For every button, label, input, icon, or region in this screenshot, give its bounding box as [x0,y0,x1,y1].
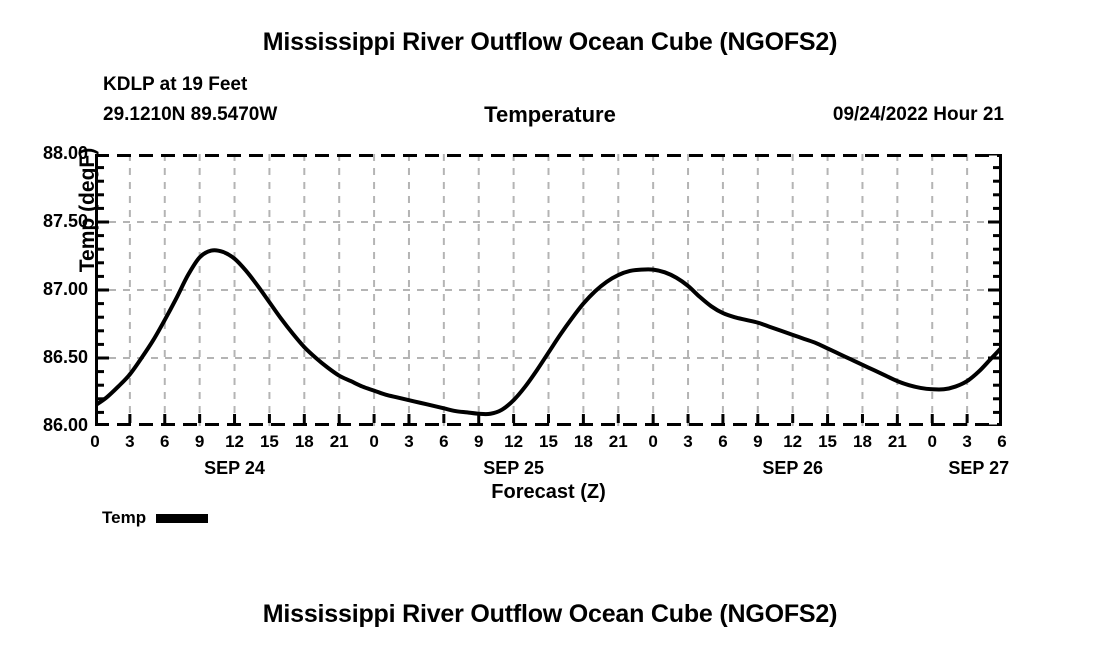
x-tick-label: 21 [330,432,349,452]
legend-label-temp: Temp [102,508,146,528]
x-axis-day-label: SEP 26 [762,458,823,479]
x-tick-label: 21 [888,432,907,452]
x-axis-day-label: SEP 27 [948,458,1009,479]
x-tick-label: 15 [539,432,558,452]
y-axis-title: Temp (degF) [76,90,100,330]
x-tick-label: 18 [295,432,314,452]
x-tick-label: 12 [504,432,523,452]
x-tick-label: 18 [574,432,593,452]
x-tick-label: 6 [997,432,1006,452]
x-tick-label: 18 [853,432,872,452]
x-axis-title: Forecast (Z) [95,481,1002,504]
y-tick-label: 86.50 [6,347,88,368]
chart-page: Mississippi River Outflow Ocean Cube (NG… [0,0,1100,650]
y-tick-label: 86.00 [6,415,88,436]
x-tick-label: 15 [260,432,279,452]
x-tick-label: 9 [195,432,204,452]
x-tick-label: 12 [225,432,244,452]
x-tick-label: 6 [439,432,448,452]
plot-frame [95,154,1002,426]
x-tick-label: 0 [648,432,657,452]
x-tick-label: 9 [474,432,483,452]
page-title-bottom: Mississippi River Outflow Ocean Cube (NG… [0,600,1100,629]
x-axis-day-label: SEP 24 [204,458,265,479]
plot-area [95,154,1002,426]
x-axis-day-label: SEP 25 [483,458,544,479]
x-tick-label: 21 [609,432,628,452]
x-tick-label: 3 [125,432,134,452]
x-tick-label: 15 [818,432,837,452]
x-axis-tick-labels: 036912151821036912151821036912151821036 [95,432,1002,456]
x-tick-label: 3 [962,432,971,452]
x-tick-label: 0 [90,432,99,452]
legend: Temp [102,508,208,528]
page-title-top: Mississippi River Outflow Ocean Cube (NG… [0,28,1100,57]
x-tick-label: 12 [783,432,802,452]
x-tick-label: 6 [160,432,169,452]
x-tick-label: 6 [718,432,727,452]
y-axis-tick-labels: 88.0087.5087.0086.5086.00 [0,154,88,426]
x-tick-label: 0 [927,432,936,452]
x-tick-label: 3 [683,432,692,452]
forecast-datetime-label: 09/24/2022 Hour 21 [833,104,1004,126]
x-axis-day-labels: SEP 24SEP 25SEP 26SEP 27 [95,458,1002,482]
x-tick-label: 9 [753,432,762,452]
x-tick-label: 0 [369,432,378,452]
legend-swatch-temp [156,514,208,523]
x-tick-label: 3 [404,432,413,452]
station-label: KDLP at 19 Feet [103,74,247,96]
